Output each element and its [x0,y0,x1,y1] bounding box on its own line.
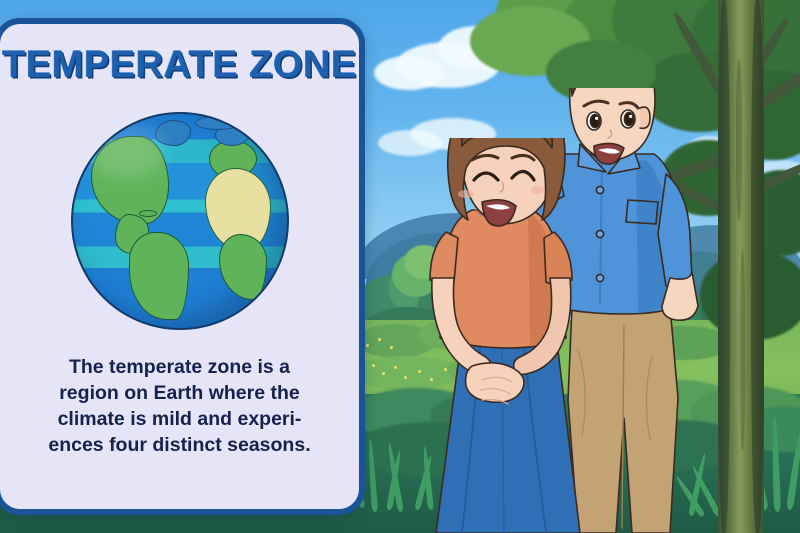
page-title: TEMPERATE ZONE [0,44,359,87]
body-line: climate is mild and experi- [14,406,345,432]
landmass-arctic-ice [195,116,241,130]
card-body-text: The temperate zone is a region on Earth … [14,354,345,458]
globe-sphere [71,112,289,330]
person-woman [420,138,620,533]
landmass-caribbean [139,210,157,217]
woman-figure [420,138,620,533]
illustration-canvas: TEMPERATE ZONE [0,0,800,533]
info-card: TEMPERATE ZONE [0,18,365,515]
body-line: The temperate zone is a [14,354,345,380]
globe-highlight [87,124,165,178]
landmass-south-america [129,232,189,320]
earth-globe-icon [71,112,289,330]
landmass-southern-africa [219,234,267,300]
body-line: ences four distinct seasons. [14,432,345,458]
body-line: region on Earth where the [14,380,345,406]
